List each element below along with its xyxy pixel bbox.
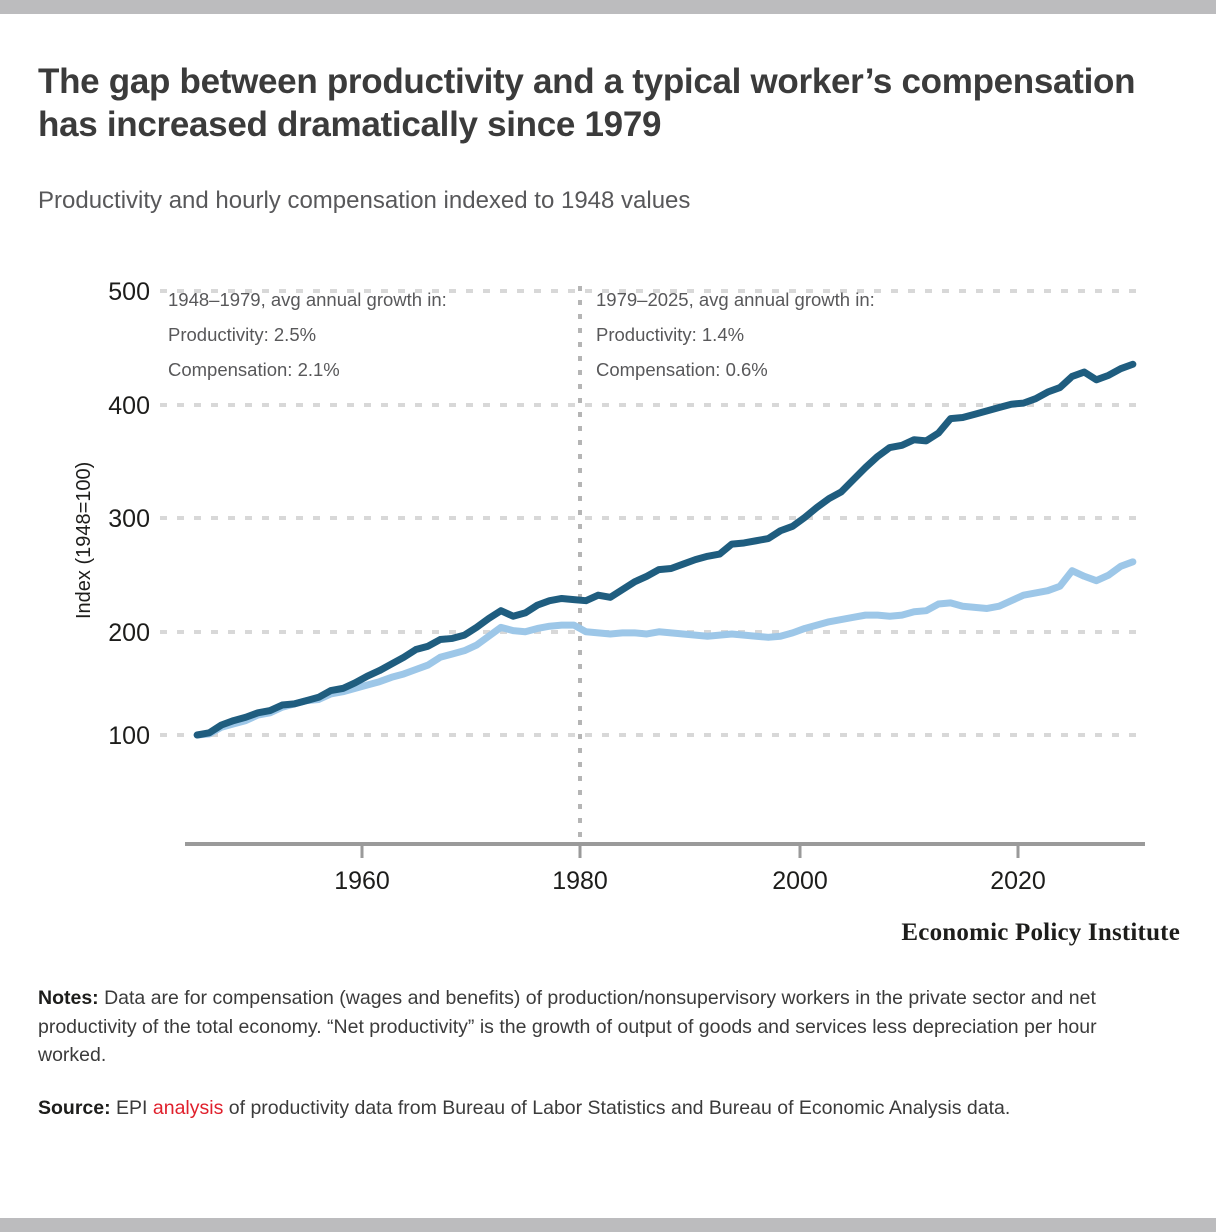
xtick-label-1960: 1960 [334,867,390,895]
epi-brand-logo: Economic Policy Institute [901,919,1180,947]
chart-figure: 500 400 300 200 100 Index (1948=100) 194… [0,244,1216,904]
chart-page: The gap between productivity and a typic… [0,14,1216,1218]
y-axis-title: Index (1948=100) [73,462,95,619]
xtick-label-1980: 1980 [552,867,608,895]
annotation-left-line1: 1948–1979, avg annual growth in: [168,289,447,310]
annotation-left-line2: Productivity: 2.5% [168,324,316,345]
source-analysis-link[interactable]: analysis [153,1097,223,1119]
x-axis-tick-labels: 1960 1980 2000 2020 [334,867,1046,895]
ytick-label-400: 400 [108,392,150,420]
source-footnote: Source: EPI analysis of productivity dat… [38,1094,1150,1123]
xtick-label-2020: 2020 [990,867,1046,895]
source-text-post: of productivity data from Bureau of Labo… [223,1097,1010,1119]
line-chart-svg: 500 400 300 200 100 Index (1948=100) 194… [0,244,1216,904]
ytick-label-300: 300 [108,505,150,533]
annotation-left-line3: Compensation: 2.1% [168,359,340,380]
source-text-pre: EPI [111,1097,153,1119]
annotation-left: 1948–1979, avg annual growth in: Product… [168,289,447,380]
notes-text: Data are for compensation (wages and ben… [38,987,1097,1066]
y-axis-tick-labels: 500 400 300 200 100 [108,278,150,750]
ytick-label-100: 100 [108,722,150,750]
x-axis-ticks [362,844,1018,858]
annotation-right-line1: 1979–2025, avg annual growth in: [596,289,875,310]
notes-footnote: Notes: Data are for compensation (wages … [38,984,1150,1070]
notes-label: Notes: [38,987,99,1009]
series-line-productivity [197,364,1133,735]
ytick-label-200: 200 [108,619,150,647]
top-edge-bar [0,0,1216,14]
ytick-label-500: 500 [108,278,150,306]
xtick-label-2000: 2000 [772,867,828,895]
chart-subtitle: Productivity and hourly compensation ind… [38,186,1168,216]
annotation-right-line2: Productivity: 1.4% [596,324,744,345]
annotation-right: 1979–2025, avg annual growth in: Product… [596,289,875,380]
gridlines [160,291,1145,735]
series-line-compensation [197,562,1133,735]
chart-title: The gap between productivity and a typic… [38,60,1168,146]
source-label: Source: [38,1097,111,1119]
bottom-edge-bar [0,1218,1216,1232]
annotation-right-line3: Compensation: 0.6% [596,359,768,380]
